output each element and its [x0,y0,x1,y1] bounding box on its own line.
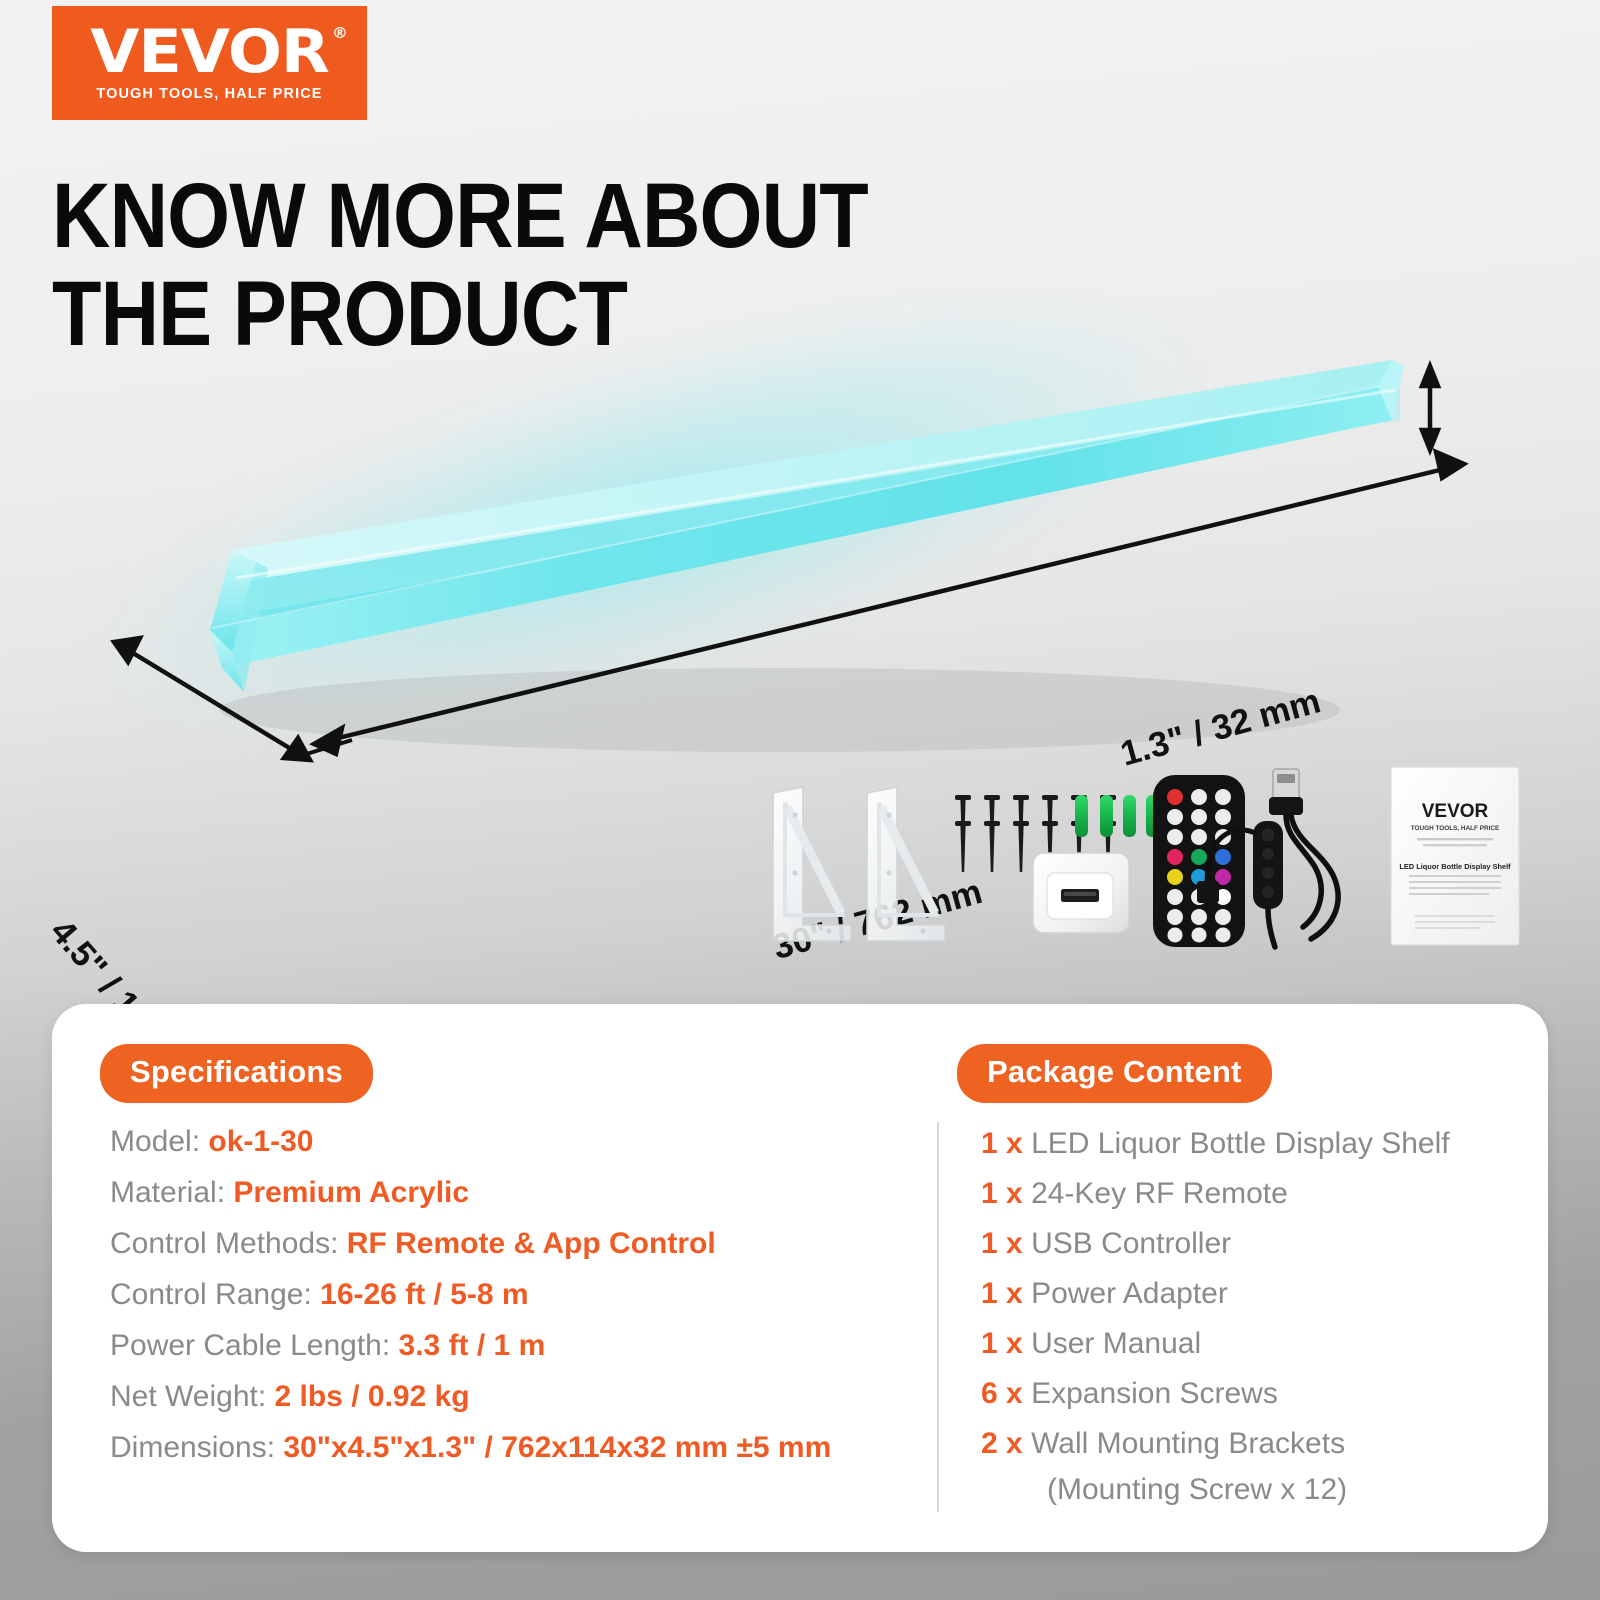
spec-label: Net Weight: [110,1380,266,1413]
power-adapter [1033,853,1129,933]
accessories-svg: VEVOR TOUGH TOOLS, HALF PRICE LED Liquor… [755,755,1545,955]
item-qty: 1 x [981,1177,1023,1210]
package-content-note: (Mounting Screw x 12) [1047,1473,1497,1507]
wall-mounting-bracket-2 [867,787,945,941]
spec-label: Control Methods: [110,1227,338,1260]
item-label: Wall Mounting Brackets [1031,1427,1345,1460]
logo-tagline: TOUGH TOOLS, HALF PRICE [96,86,322,102]
user-manual: VEVOR TOUGH TOOLS, HALF PRICE LED Liquor… [1391,767,1519,945]
info-card: Specifications Model: ok-1-30 Material: … [52,1004,1548,1552]
manual-tagline-text: TOUGH TOOLS, HALF PRICE [1411,825,1500,832]
item-label: LED Liquor Bottle Display Shelf [1031,1127,1450,1160]
item-label: Power Adapter [1031,1277,1228,1310]
accessories-group: VEVOR TOUGH TOOLS, HALF PRICE LED Liquor… [755,755,1545,955]
item-label: User Manual [1031,1327,1201,1360]
item-qty: 1 x [981,1327,1023,1360]
logo-wordmark: VEVOR® [90,24,329,81]
spec-value: 3.3 ft / 1 m [399,1329,546,1362]
spec-label: Control Range: [110,1278,312,1311]
spec-value: RF Remote & App Control [347,1227,716,1260]
spec-value: Premium Acrylic [233,1176,469,1209]
item-qty: 6 x [981,1377,1023,1410]
list-item: 1 x USB Controller [981,1229,1497,1259]
spec-row: Model: ok-1-30 [110,1127,940,1157]
package-content-section: Package Content 1 x LED Liquor Bottle Di… [957,1044,1497,1507]
spec-row: Dimensions: 30"x4.5"x1.3" / 762x114x32 m… [110,1433,940,1463]
item-qty: 1 x [981,1127,1023,1160]
list-item: 6 x Expansion Screws [981,1379,1497,1409]
item-label: Expansion Screws [1031,1377,1278,1410]
logo-brand-text: VEVOR [90,17,329,87]
spec-value: 2 lbs / 0.92 kg [275,1380,470,1413]
headline-line-1: KNOW MORE ABOUT [52,168,868,266]
list-item: 1 x Power Adapter [981,1279,1497,1309]
spec-value: 30"x4.5"x1.3" / 762x114x32 mm ±5 mm [283,1431,831,1464]
spec-label: Material: [110,1176,225,1209]
specifications-section: Specifications Model: ok-1-30 Material: … [100,1044,940,1484]
spec-row: Control Range: 16-26 ft / 5-8 m [110,1280,940,1310]
list-item: 1 x 24-Key RF Remote [981,1179,1497,1209]
wall-mounting-bracket-1 [773,787,851,941]
registered-trademark-icon: ® [332,26,347,40]
spec-row: Net Weight: 2 lbs / 0.92 kg [110,1382,940,1412]
item-label: USB Controller [1031,1227,1231,1260]
specifications-title-badge: Specifications [100,1044,373,1103]
spec-row: Material: Premium Acrylic [110,1178,940,1208]
item-qty: 2 x [981,1427,1023,1460]
item-qty: 1 x [981,1227,1023,1260]
list-item: 1 x User Manual [981,1329,1497,1359]
mounting-screws-row-1 [955,795,1116,842]
spec-value: 16-26 ft / 5-8 m [320,1278,528,1311]
rf-remote [1153,775,1245,947]
spec-label: Dimensions: [110,1431,275,1464]
manual-brand-text: VEVOR [1422,801,1489,822]
list-item: 1 x LED Liquor Bottle Display Shelf [981,1129,1497,1159]
spec-label: Power Cable Length: [110,1329,390,1362]
list-item: 2 x Wall Mounting Brackets [981,1429,1497,1459]
manual-title-text: LED Liquor Bottle Display Shelf [1399,862,1511,871]
expansion-anchors [755,755,1205,837]
package-content-list: 1 x LED Liquor Bottle Display Shelf 1 x … [981,1129,1497,1507]
spec-value: ok-1-30 [208,1125,313,1158]
package-content-title-badge: Package Content [957,1044,1272,1103]
specifications-list: Model: ok-1-30 Material: Premium Acrylic… [100,1127,940,1463]
item-qty: 1 x [981,1277,1023,1310]
infographic-canvas: VEVOR® TOUGH TOOLS, HALF PRICE KNOW MORE… [0,0,1600,1600]
item-label: 24-Key RF Remote [1031,1177,1288,1210]
product-illustration: 1.3" / 32 mm 30" / 762 mm 4.5" / 114 mm [0,300,1600,820]
shelf-3d-svg [0,300,1600,820]
spec-row: Power Cable Length: 3.3 ft / 1 m [110,1331,940,1361]
spec-row: Control Methods: RF Remote & App Control [110,1229,940,1259]
spec-label: Model: [110,1125,200,1158]
vevor-logo: VEVOR® TOUGH TOOLS, HALF PRICE [52,6,367,120]
